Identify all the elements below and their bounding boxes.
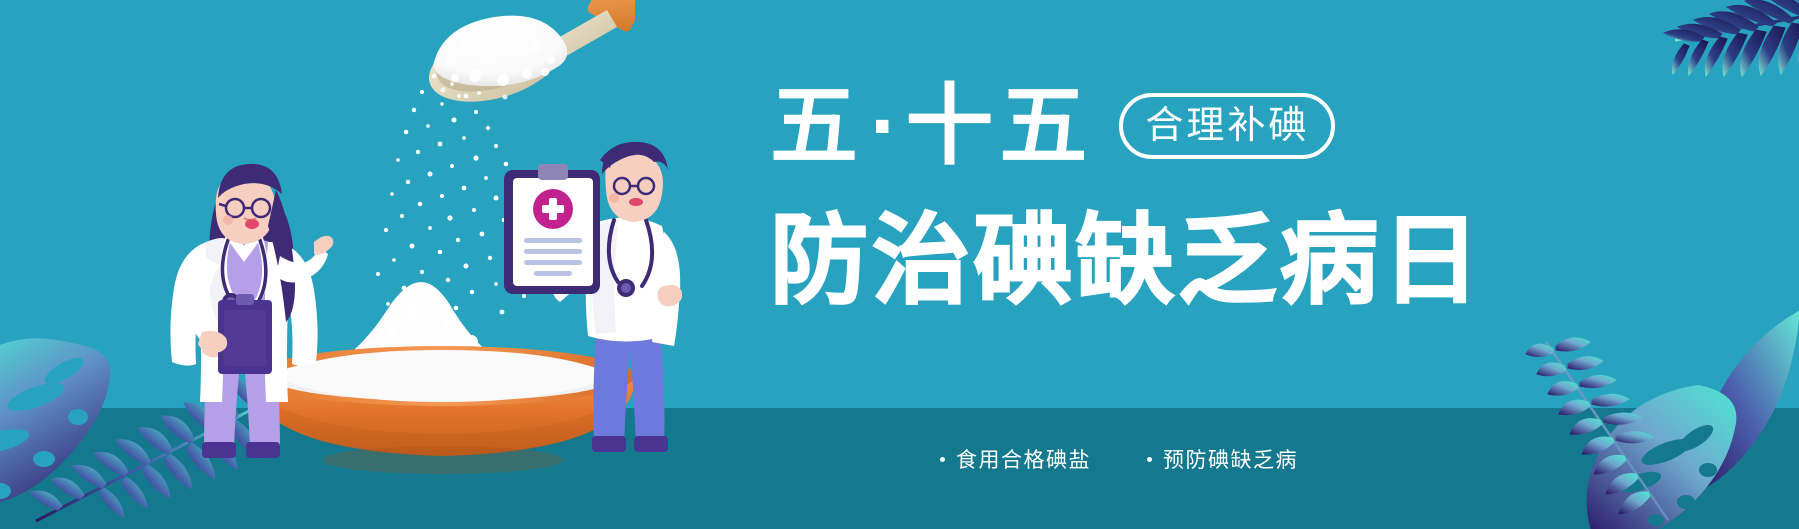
tagline-item-1-label: 食用合格碘盐 xyxy=(956,444,1091,474)
page-title: 防治碘缺乏病日 xyxy=(770,212,1484,310)
iodine-deficiency-day-banner: 五 · 十五 合理补碘 防治碘缺乏病日 食用合格碘盐 预防碘缺乏病 xyxy=(0,0,1799,529)
headline-date-separator: · xyxy=(870,82,899,170)
female-doctor-illustration xyxy=(140,160,350,475)
tagline-item-2-label: 预防碘缺乏病 xyxy=(1163,444,1298,474)
headline-text-block: 五 · 十五 合理补碘 防治碘缺乏病日 xyxy=(770,60,1420,360)
bullet-icon xyxy=(940,457,945,462)
tagline-list: 食用合格碘盐 预防碘缺乏病 xyxy=(940,398,1298,520)
medical-clipboard-icon xyxy=(500,164,610,305)
headline-date-part-1: 五 xyxy=(770,82,864,170)
reasonable-iodine-badge: 合理补碘 xyxy=(1119,93,1335,159)
tagline-item-1: 食用合格碘盐 xyxy=(940,444,1091,474)
headline-date-row: 五 · 十五 合理补碘 xyxy=(770,82,1335,170)
tagline-item-2: 预防碘缺乏病 xyxy=(1147,444,1298,474)
headline-date-part-2: 十五 xyxy=(905,82,1093,170)
bullet-icon xyxy=(1147,457,1152,462)
